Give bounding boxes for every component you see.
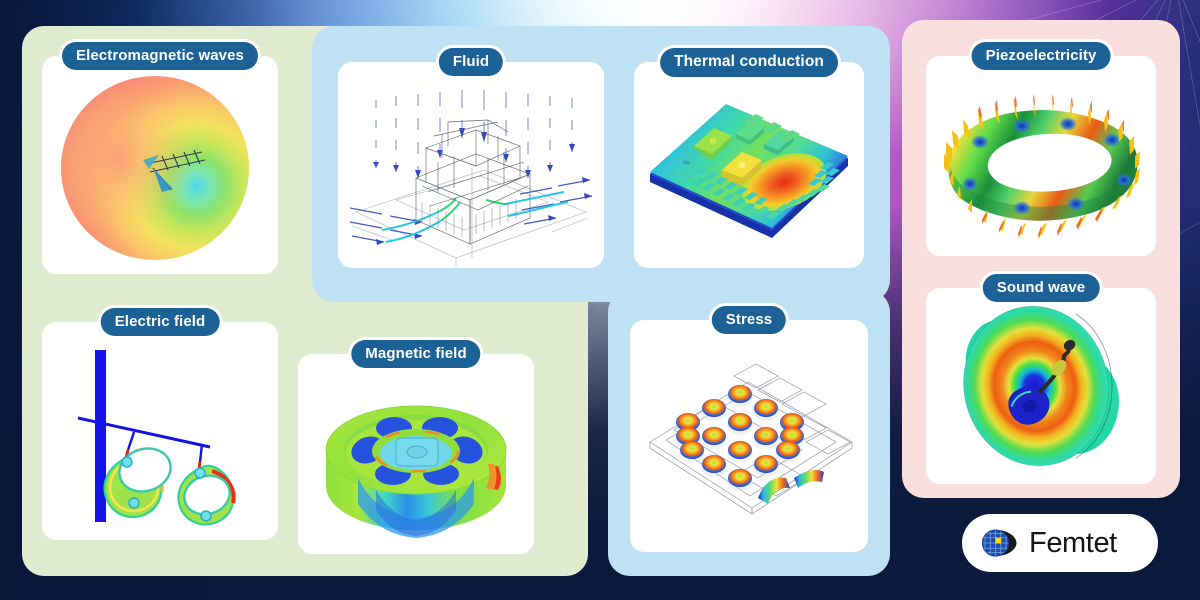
card-electromagnetic-waves[interactable]: Electromagnetic waves: [42, 56, 278, 274]
femtet-globe-icon: [978, 522, 1020, 564]
femtet-logo[interactable]: Femtet: [962, 514, 1158, 572]
badge-electric-field: Electric field: [101, 308, 220, 336]
figure-piezo-ring-mode-shape: [926, 56, 1156, 256]
figure-airflow-vector-field: [338, 62, 604, 268]
card-electric-field[interactable]: Electric field: [42, 322, 278, 540]
badge-piezoelectricity: Piezoelectricity: [972, 42, 1111, 70]
card-magnetic-field[interactable]: Magnetic field: [298, 354, 534, 554]
figure-antenna-radiation-pattern: [42, 56, 278, 274]
badge-thermal-conduction: Thermal conduction: [660, 48, 838, 77]
figure-solder-ball-stress: [630, 320, 868, 552]
card-fluid[interactable]: Fluid: [338, 62, 604, 268]
femtet-logo-text: Femtet: [1029, 527, 1117, 560]
card-sound-wave[interactable]: Sound wave: [926, 288, 1156, 484]
figure-motor-magnetic-flux: [298, 354, 534, 554]
card-thermal-conduction[interactable]: Thermal conduction: [634, 62, 864, 268]
figure-speaker-sound-pressure: [926, 288, 1156, 484]
figure-insulator-electric-field: [42, 322, 278, 540]
poster-stage: Electromagnetic waves: [0, 0, 1200, 600]
figure-pcb-temperature-map: [634, 62, 864, 268]
badge-magnetic-field: Magnetic field: [351, 340, 480, 368]
badge-stress: Stress: [712, 306, 786, 334]
badge-sound-wave: Sound wave: [983, 274, 1100, 302]
badge-electromagnetic-waves: Electromagnetic waves: [62, 42, 258, 70]
badge-fluid: Fluid: [439, 48, 503, 76]
card-piezoelectricity[interactable]: Piezoelectricity: [926, 56, 1156, 256]
card-stress[interactable]: Stress: [630, 320, 868, 552]
